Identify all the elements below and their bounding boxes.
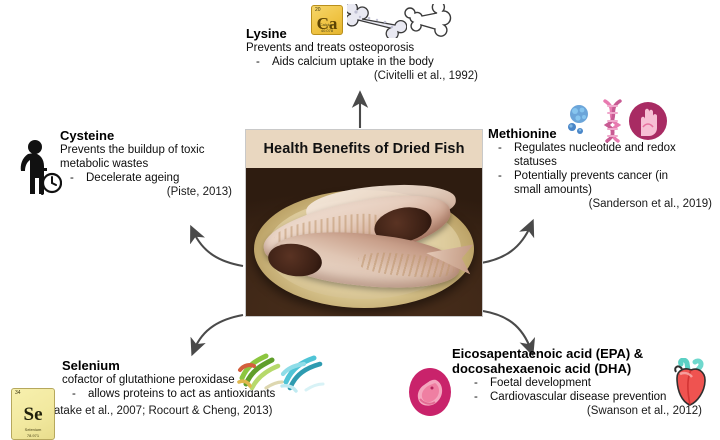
selenium-symbol: Se bbox=[12, 405, 54, 424]
node-cysteine-citation: (Piste, 2013) bbox=[60, 185, 232, 199]
selenium-element-tile-icon: 34 Se Selenium 78.971 bbox=[11, 388, 55, 440]
bullet-mark: - bbox=[72, 387, 88, 401]
node-methionine-bullet-text: Potentially prevents cancer (in bbox=[514, 170, 668, 182]
center-title-banner: Health Benefits of Dried Fish bbox=[246, 130, 482, 168]
selenium-atomic-number: 34 bbox=[15, 390, 21, 396]
node-methionine-citation: (Sanderson et al., 2019) bbox=[488, 197, 712, 211]
node-lysine-line: Prevents and treats osteoporosis bbox=[246, 41, 492, 55]
node-epa-dha-citation: (Swanson et al., 2012) bbox=[452, 404, 702, 418]
node-cysteine-bullet: -Decelerate ageing bbox=[60, 171, 240, 185]
calcium-weight: 40.078 bbox=[312, 28, 342, 33]
bone-icon bbox=[347, 4, 407, 38]
selenium-name: Selenium bbox=[12, 427, 54, 432]
calcium-atomic-number: 20 bbox=[315, 7, 321, 13]
node-lysine-bullet: -Aids calcium uptake in the body bbox=[246, 55, 492, 69]
hand-redox-icon bbox=[628, 101, 668, 141]
anatomical-heart-icon bbox=[667, 358, 713, 410]
dried-fish-photo bbox=[246, 168, 482, 316]
foetus-icon bbox=[406, 366, 454, 418]
arrow-to-selenium bbox=[194, 315, 243, 350]
arrow-to-cysteine bbox=[193, 231, 243, 266]
arrow-to-methionine bbox=[481, 225, 531, 263]
node-cysteine-bullet-text: Decelerate ageing bbox=[86, 172, 179, 184]
node-epa-dha-bullet-text: Cardiovascular disease prevention bbox=[490, 391, 666, 403]
node-methionine-bullet: -Potentially prevents cancer (in bbox=[488, 169, 716, 183]
center-panel: Health Benefits of Dried Fish bbox=[246, 130, 482, 316]
node-methionine-bullet-cont: statuses bbox=[488, 155, 716, 169]
bone-icon bbox=[404, 4, 452, 38]
calcium-name: Calcium bbox=[312, 22, 342, 27]
node-epa-dha-bullet-text: Foetal development bbox=[490, 377, 591, 389]
calcium-element-tile-icon: 20 Ca Calcium 40.078 bbox=[311, 5, 343, 35]
node-methionine-bullet-text: Regulates nucleotide and redox bbox=[514, 142, 676, 154]
protein-ribbon-cyan-icon bbox=[278, 348, 326, 394]
infographic-canvas: Health Benefits of Dried Fish Lysine Pre… bbox=[0, 0, 720, 437]
bullet-mark: - bbox=[70, 171, 86, 185]
arrow-to-epa-dha bbox=[483, 311, 531, 350]
node-cysteine: Cysteine Prevents the buildup of toxic m… bbox=[60, 128, 240, 199]
node-cysteine-title: Cysteine bbox=[60, 128, 240, 143]
bullet-mark: - bbox=[498, 169, 514, 183]
node-lysine-bullet-text: Aids calcium uptake in the body bbox=[272, 56, 434, 68]
node-cysteine-line: metabolic wastes bbox=[60, 157, 240, 171]
selenium-weight: 78.971 bbox=[12, 433, 54, 438]
dna-helix-icon bbox=[596, 99, 630, 143]
bullet-mark: - bbox=[474, 390, 490, 404]
bullet-mark: - bbox=[498, 141, 514, 155]
page-title: Health Benefits of Dried Fish bbox=[263, 141, 464, 157]
node-methionine-bullet-cont: small amounts) bbox=[488, 183, 716, 197]
node-cysteine-line: Prevents the buildup of toxic bbox=[60, 143, 240, 157]
node-lysine-citation: (Civitelli et al., 1992) bbox=[246, 69, 478, 83]
node-methionine-bullet: -Regulates nucleotide and redox bbox=[488, 141, 716, 155]
elderly-person-with-cane-icon bbox=[16, 138, 62, 196]
bullet-mark: - bbox=[256, 55, 272, 69]
bullet-mark: - bbox=[474, 376, 490, 390]
